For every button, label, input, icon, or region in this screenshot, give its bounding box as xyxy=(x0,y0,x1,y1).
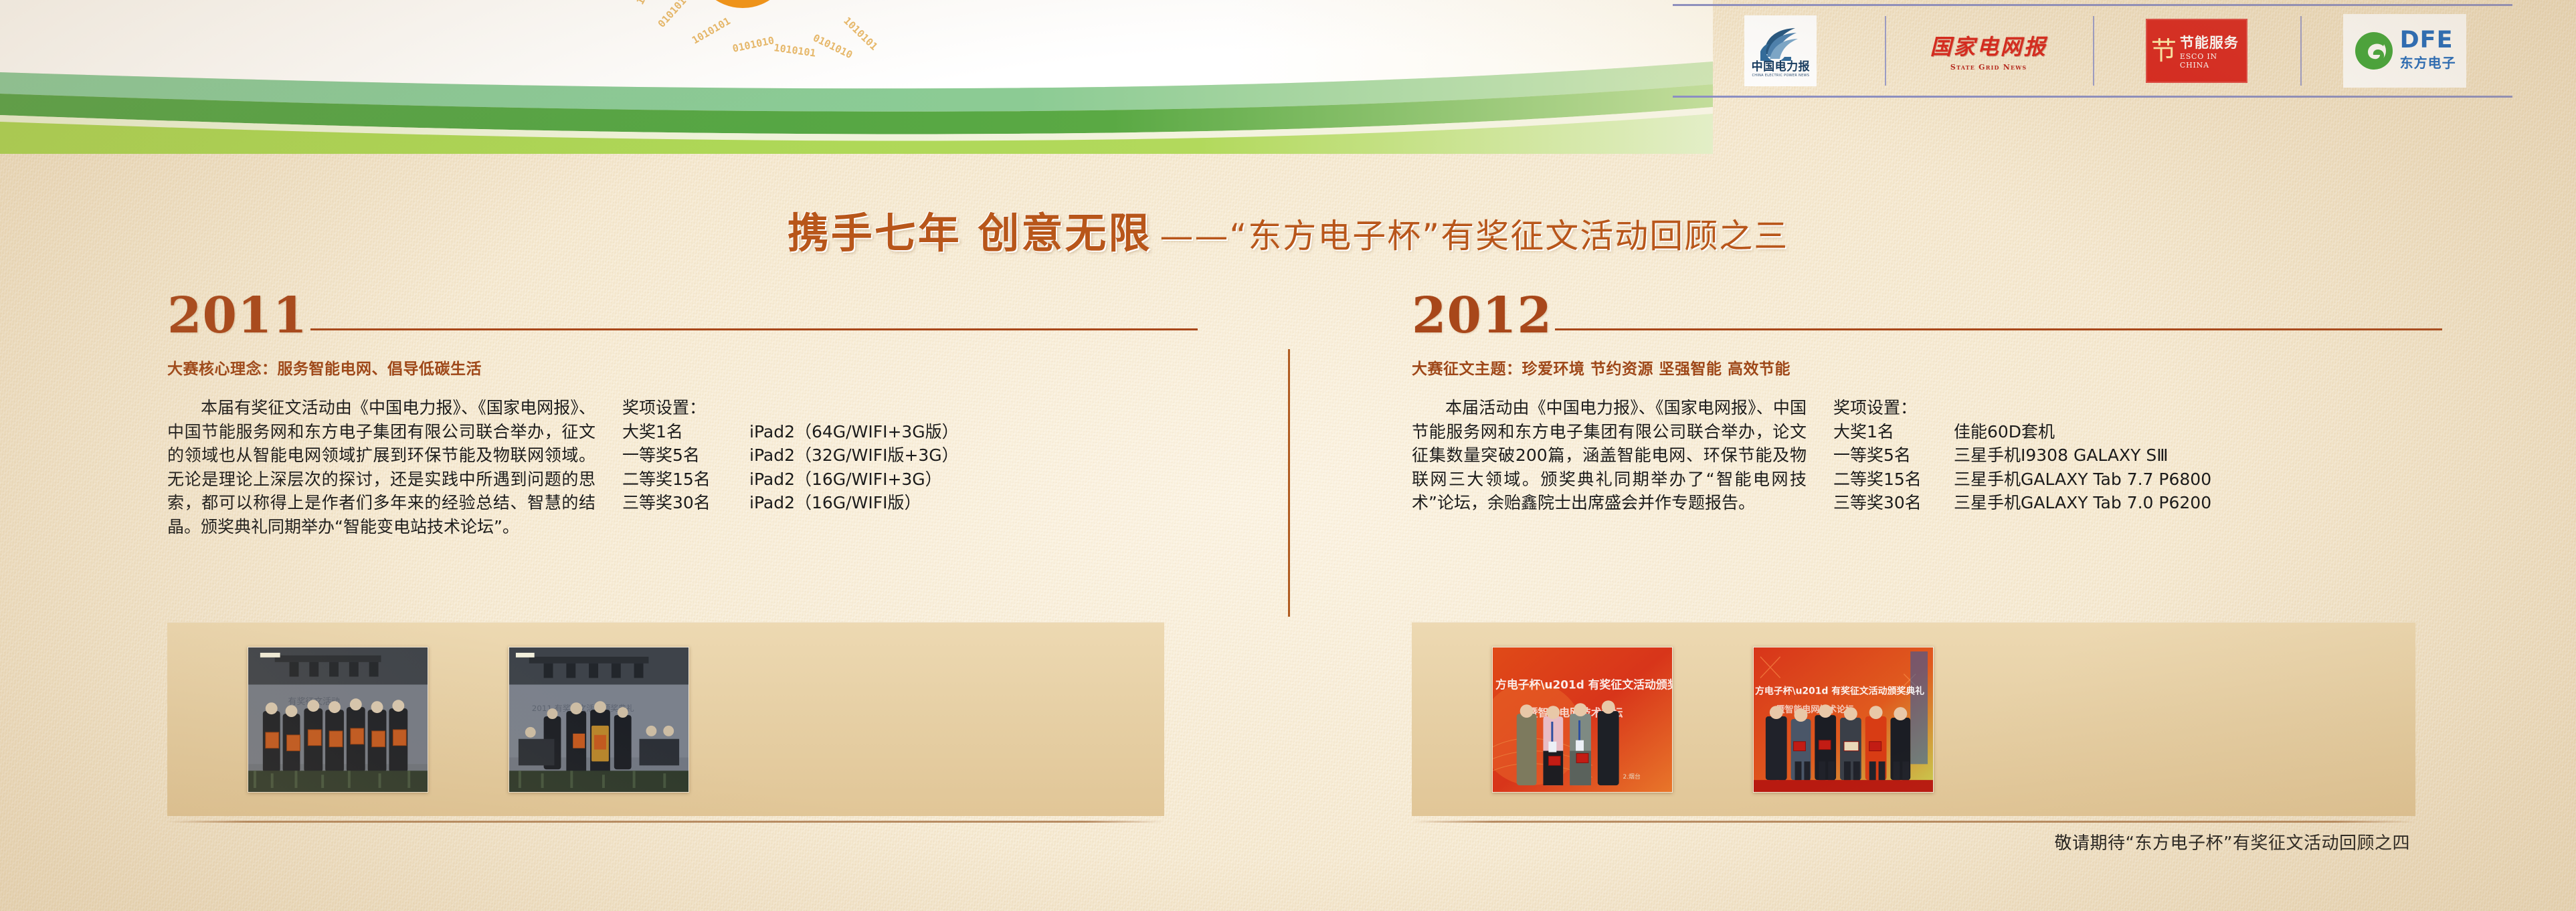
logo-state-grid-news: 国家电网报 State Grid News xyxy=(1885,13,2093,88)
page-title: 携手七年 创意无限——“东方电子杯”有奖征文活动回顾之三 xyxy=(0,199,2576,260)
svg-text:暨智能电网技术论坛: 暨智能电网技术论坛 xyxy=(1776,704,1854,715)
column-2012: 2012 大赛征文主题：珍爱环境 节约资源 坚强智能 高效节能 本届活动由《中国… xyxy=(1412,288,2442,515)
logo1-en-label: CHINA ELECTRIC POWER NEWS xyxy=(1752,74,1809,78)
award-rank: 二等奖15名 xyxy=(622,468,749,492)
award-rank: 大奖1名 xyxy=(1833,420,1954,444)
photo-2012-2: 方电子杯\u201d 有奖征文活动颁奖典礼 暨智能电网技术论坛 xyxy=(1753,647,1934,793)
year-rule-2011 xyxy=(310,328,1198,330)
sponsor-logo-strip: 中国电力报 CHINA ELECTRIC POWER NEWS 国家电网报 St… xyxy=(1673,4,2512,98)
award-prize: iPad2（32G∕WIFI版+3G） xyxy=(749,443,959,468)
awards-head-2011: 奖项设置： xyxy=(622,396,959,420)
photo-2012-1: 方电子杯\u201d 有奖征文活动颁奖典 暨智能电网技术论坛 xyxy=(1492,647,1673,793)
award-prize: iPad2（16G∕WIFI+3G） xyxy=(749,468,942,492)
logo3-en-label: ESCO IN CHINA xyxy=(2180,52,2242,70)
award-rank: 三等奖30名 xyxy=(1833,491,1954,515)
logo-china-electric-power-news: 中国电力报 CHINA ELECTRIC POWER NEWS xyxy=(1677,13,1885,88)
award-prize: iPad2（64G∕WIFI+3G版） xyxy=(749,420,959,444)
dfe-swirl-icon xyxy=(2353,30,2395,72)
award-rank: 三等奖30名 xyxy=(622,491,749,515)
award-rank: 一等奖5名 xyxy=(1833,443,1954,468)
award-row: 三等奖30名 三星手机GALAXY Tab 7.0 P6200 xyxy=(1833,491,2211,515)
logo2-cn-label: 国家电网报 xyxy=(1930,30,2047,61)
subtitle-2012: 大赛征文主题：珍爱环境 节约资源 坚强智能 高效节能 xyxy=(1412,356,2442,379)
page-title-light: ——“东方电子杯”有奖征文活动回顾之三 xyxy=(1160,217,1788,256)
paragraph-2012: 本届活动由《中国电力报》、《国家电网报》、中国节能服务网和东方电子集团有限公司联… xyxy=(1412,396,1807,515)
awards-head-2012: 奖项设置： xyxy=(1833,396,2211,420)
award-prize: 三星手机GALAXY Tab 7.7 P6800 xyxy=(1954,468,2211,492)
award-prize: 佳能60D套机 xyxy=(1954,420,2055,444)
svg-text:方电子杯\u201d 有奖征文活动颁奖典礼: 方电子杯\u201d 有奖征文活动颁奖典礼 xyxy=(1755,685,1924,696)
photo-2011-1: 有奖征文活动 xyxy=(248,647,428,793)
award-row: 二等奖15名 三星手机GALAXY Tab 7.7 P6800 xyxy=(1833,468,2211,492)
award-row: 二等奖15名 iPad2（16G∕WIFI+3G） xyxy=(622,468,959,492)
poster-canvas: 1010101 0101010 1010101 0101010 1010101 … xyxy=(0,0,2576,911)
footer-note: 敬请期待“东方电子杯”有奖征文活动回顾之四 xyxy=(1412,829,2415,854)
esco-glyph-icon: 节 xyxy=(2151,38,2177,64)
award-row: 一等奖5名 iPad2（32G∕WIFI版+3G） xyxy=(622,443,959,468)
award-rank: 二等奖15名 xyxy=(1833,468,1954,492)
award-row: 一等奖5名 三星手机I9308 GALAXY SⅢ xyxy=(1833,443,2211,468)
column-divider xyxy=(1288,349,1290,617)
logo1-cn-label: 中国电力报 xyxy=(1752,62,1811,73)
awards-2011: 奖项设置： 大奖1名 iPad2（64G∕WIFI+3G版） 一等奖5名 iPa… xyxy=(622,396,959,538)
award-row: 大奖1名 佳能60D套机 xyxy=(1833,420,2211,444)
svg-text:方电子杯\u201d 有奖征文活动颁奖典: 方电子杯\u201d 有奖征文活动颁奖典 xyxy=(1495,678,1672,691)
page-title-strong: 携手七年 创意无限 xyxy=(788,209,1152,258)
award-prize: 三星手机GALAXY Tab 7.0 P6200 xyxy=(1954,491,2211,515)
logo-esco-in-china: 节 节能服务 ESCO IN CHINA xyxy=(2093,13,2301,88)
column-2011: 2011 大赛核心理念：服务智能电网、倡导低碳生活 本届有奖征文活动由《中国电力… xyxy=(167,288,1198,538)
banner-decoration: 1010101 0101010 1010101 0101010 1010101 … xyxy=(0,0,1713,154)
award-rank: 一等奖5名 xyxy=(622,443,749,468)
photo-2011-2: 2011 有奖征文活动颁奖典礼 xyxy=(509,647,689,793)
logo4-cn-label: 东方电子 xyxy=(2400,52,2456,72)
logo2-en-label: State Grid News xyxy=(1950,63,2027,72)
award-row: 大奖1名 iPad2（64G∕WIFI+3G版） xyxy=(622,420,959,444)
year-header-2011: 2011 xyxy=(167,288,1198,338)
svg-text:2.烟台: 2.烟台 xyxy=(1623,773,1641,781)
awards-2012: 奖项设置： 大奖1名 佳能60D套机 一等奖5名 三星手机I9308 GALAX… xyxy=(1833,396,2211,515)
year-label-2011: 2011 xyxy=(167,293,308,338)
photo-band-2011: 有奖征文活动 xyxy=(167,622,1164,816)
award-rank: 大奖1名 xyxy=(622,420,749,444)
year-header-2012: 2012 xyxy=(1412,288,2442,338)
logo-dfe: DFE 东方电子 xyxy=(2300,13,2508,88)
logo4-en-label: DFE xyxy=(2400,30,2454,52)
logo3-cn-label: 节能服务 xyxy=(2180,32,2239,52)
year-rule-2012 xyxy=(1555,328,2442,330)
photo-band-2012: 方电子杯\u201d 有奖征文活动颁奖典 暨智能电网技术论坛 xyxy=(1412,622,2415,816)
year-label-2012: 2012 xyxy=(1412,293,1552,338)
award-prize: 三星手机I9308 GALAXY SⅢ xyxy=(1954,443,2168,468)
paragraph-2011: 本届有奖征文活动由《中国电力报》、《国家电网报》、中国节能服务网和东方电子集团有… xyxy=(167,396,595,538)
cepn-swoosh-icon xyxy=(1760,25,1801,61)
subtitle-2011: 大赛核心理念：服务智能电网、倡导低碳生活 xyxy=(167,356,1198,379)
award-prize: iPad2（16G∕WIFI版） xyxy=(749,491,921,515)
award-row: 三等奖30名 iPad2（16G∕WIFI版） xyxy=(622,491,959,515)
